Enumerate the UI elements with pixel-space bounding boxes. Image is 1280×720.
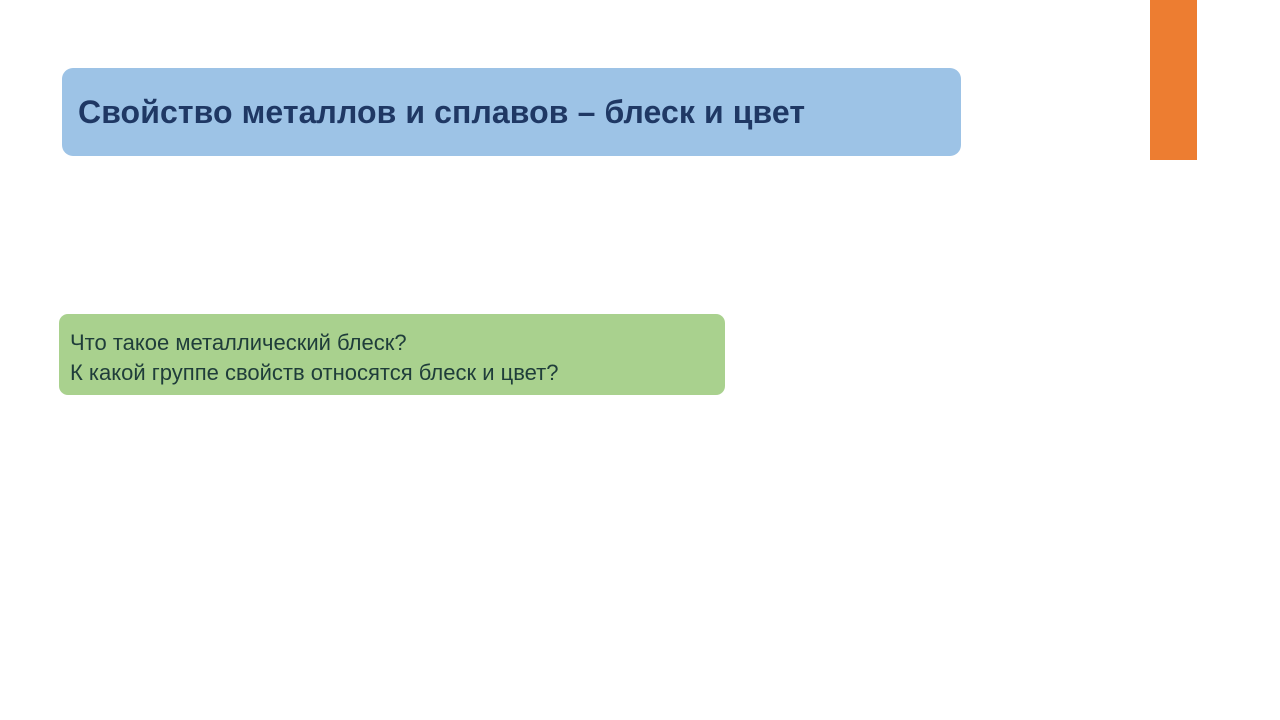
question-line-2: К какой группе свойств относятся блеск и… bbox=[70, 358, 713, 388]
orange-accent-bar bbox=[1150, 0, 1197, 160]
page-title: Свойство металлов и сплавов – блеск и цв… bbox=[78, 93, 805, 131]
presentation-slide: Свойство металлов и сплавов – блеск и цв… bbox=[0, 0, 1280, 720]
slide-title-box[interactable]: Свойство металлов и сплавов – блеск и цв… bbox=[62, 68, 961, 156]
question-line-1: Что такое металлический блеск? bbox=[70, 328, 713, 358]
question-content-box[interactable]: Что такое металлический блеск? К какой г… bbox=[59, 314, 725, 395]
